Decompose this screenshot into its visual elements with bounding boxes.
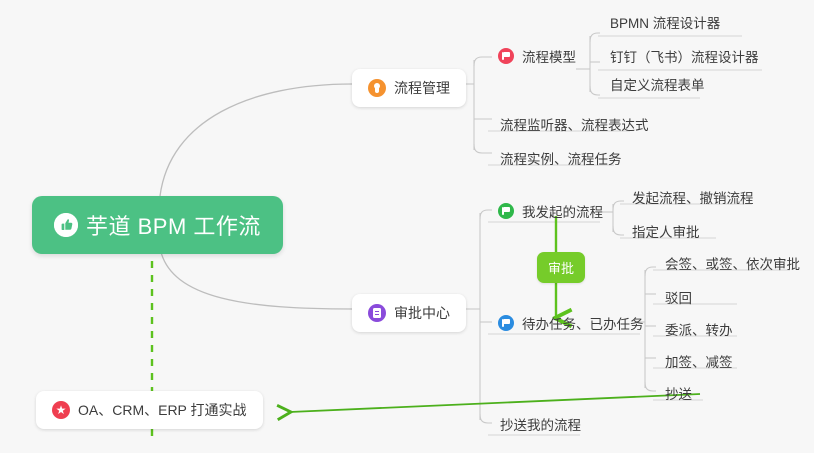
node-todo-done-tasks-label: 待办任务、已办任务 xyxy=(522,313,644,333)
leaf-reject[interactable]: 驳回 xyxy=(655,285,702,312)
branch-process-management-label: 流程管理 xyxy=(394,78,450,98)
leaf-cc[interactable]: 抄送 xyxy=(655,381,702,408)
star-glyph: ★ xyxy=(56,404,67,416)
cc-link-arrow xyxy=(290,394,700,412)
pin-icon xyxy=(368,79,386,97)
approval-tag[interactable]: 审批 xyxy=(537,252,585,283)
link-root-to-approval-center xyxy=(160,248,352,309)
branch-process-management[interactable]: 流程管理 xyxy=(352,69,466,107)
node-process-model-label: 流程模型 xyxy=(522,46,576,66)
leaf-process-instance[interactable]: 流程实例、流程任务 xyxy=(490,146,632,173)
integration-note-label: OA、CRM、ERP 打通实战 xyxy=(78,400,247,420)
root-node[interactable]: 芋道 BPM 工作流 xyxy=(32,196,283,254)
leaf-start-cancel-process[interactable]: 发起流程、撤销流程 xyxy=(622,185,764,212)
node-my-initiated-label: 我发起的流程 xyxy=(522,201,603,221)
leaf-add-remove-sign[interactable]: 加签、减签 xyxy=(655,349,743,376)
link-root-to-process-management xyxy=(160,84,352,196)
node-my-initiated[interactable]: 我发起的流程 xyxy=(490,199,613,226)
leaf-process-listener[interactable]: 流程监听器、流程表达式 xyxy=(490,112,659,139)
node-process-model[interactable]: 流程模型 xyxy=(490,44,586,71)
flag-icon-red xyxy=(498,48,514,64)
leaf-dingtalk-designer[interactable]: 钉钉（飞书）流程设计器 xyxy=(600,44,769,71)
doc-icon xyxy=(368,304,386,322)
integration-note-node[interactable]: ★ OA、CRM、ERP 打通实战 xyxy=(36,391,263,429)
node-todo-done-tasks[interactable]: 待办任务、已办任务 xyxy=(490,311,654,338)
flag-icon-blue xyxy=(498,315,514,331)
leaf-custom-process-form[interactable]: 自定义流程表单 xyxy=(600,72,715,99)
leaf-delegate-transfer[interactable]: 委派、转办 xyxy=(655,317,743,344)
star-icon: ★ xyxy=(52,401,70,419)
flag-icon-green xyxy=(498,203,514,219)
branch-approval-center-label: 审批中心 xyxy=(394,303,450,323)
thumbs-up-icon xyxy=(54,213,78,237)
leaf-multi-sign[interactable]: 会签、或签、依次审批 xyxy=(655,251,810,278)
link-model-to-bpmn xyxy=(590,33,600,42)
root-label: 芋道 BPM 工作流 xyxy=(86,209,261,241)
leaf-bpmn-designer[interactable]: BPMN 流程设计器 xyxy=(600,10,730,37)
branch-approval-center[interactable]: 审批中心 xyxy=(352,294,466,332)
link-model-to-custom-form xyxy=(590,86,600,95)
mindmap-canvas: 芋道 BPM 工作流 ★ OA、CRM、ERP 打通实战 流程管理 审批中心 流… xyxy=(0,0,814,453)
leaf-cc-to-me[interactable]: 抄送我的流程 xyxy=(490,412,591,439)
leaf-assignee-approval[interactable]: 指定人审批 xyxy=(622,219,710,246)
